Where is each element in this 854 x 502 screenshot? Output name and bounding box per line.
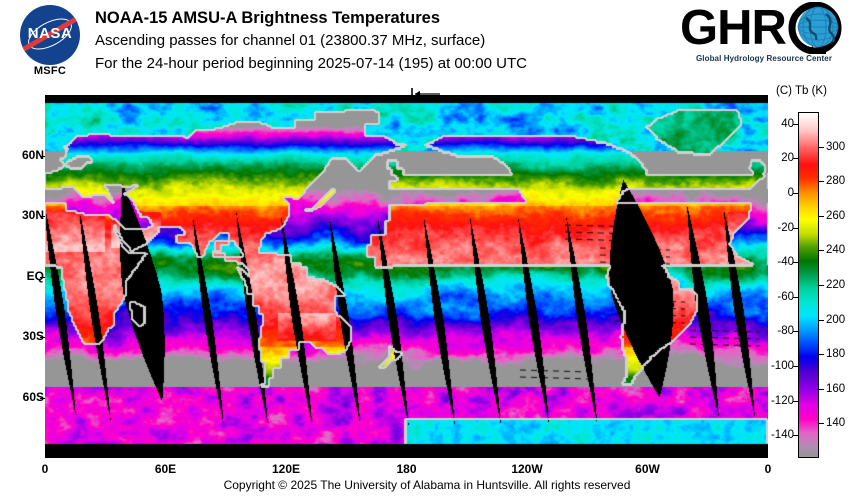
brightness-temperature-map[interactable] xyxy=(45,95,768,458)
colorbar-label-kelvin: 160 xyxy=(826,383,845,395)
copyright-notice: Copyright © 2025 The University of Alaba… xyxy=(0,478,854,492)
colorbar-gradient xyxy=(798,112,819,458)
map-canvas[interactable] xyxy=(45,95,768,458)
colorbar-label-kelvin: 220 xyxy=(826,279,845,291)
period-subtitle: For the 24-hour period beginning 2025-07… xyxy=(95,52,527,75)
colorbar-label-kelvin: 240 xyxy=(826,244,845,256)
latitude-tick xyxy=(40,337,45,338)
svg-text:GHR: GHR xyxy=(680,2,787,54)
channel-subtitle: Ascending passes for channel 01 (23800.3… xyxy=(95,29,527,52)
longitude-label: 0 xyxy=(42,462,49,476)
colorbar-tick-kelvin xyxy=(819,423,824,424)
title-block: NOAA-15 AMSU-A Brightness Temperatures A… xyxy=(95,8,527,75)
latitude-label: 60S xyxy=(0,390,52,404)
latitude-tick xyxy=(40,277,45,278)
page-header: NASA MSFC NOAA-15 AMSU-A Brightness Temp… xyxy=(0,0,854,88)
colorbar-label-kelvin: 140 xyxy=(826,417,845,429)
page-title: NOAA-15 AMSU-A Brightness Temperatures xyxy=(95,8,527,29)
colorbar-tick-kelvin xyxy=(819,285,824,286)
longitude-label: 60E xyxy=(155,462,176,476)
colorbar-tick-kelvin xyxy=(819,147,824,148)
longitude-label: 0 xyxy=(765,462,772,476)
latitude-tick xyxy=(40,398,45,399)
longitude-label: 120W xyxy=(511,462,542,476)
colorbar-label-kelvin: 280 xyxy=(826,175,845,187)
colorbar-tick-kelvin xyxy=(819,389,824,390)
latitude-tick xyxy=(40,156,45,157)
colorbar-tick-kelvin xyxy=(819,354,824,355)
colorbar-tick-kelvin xyxy=(819,216,824,217)
ghrc-wordmark-icon: GHR xyxy=(678,2,850,54)
latitude-tick xyxy=(40,216,45,217)
colorbar-tick-kelvin xyxy=(819,320,824,321)
colorbar-label-kelvin: 300 xyxy=(826,141,845,153)
longitude-label: 180 xyxy=(396,462,416,476)
colorbar-label-celsius: 40 xyxy=(781,118,794,130)
colorbar-tick-kelvin xyxy=(819,250,824,251)
latitude-label: 60N xyxy=(0,148,52,162)
map-top-arrow-marker xyxy=(408,88,442,100)
colorbar-label-celsius: -80 xyxy=(777,325,794,337)
latitude-label: 30N xyxy=(0,208,52,222)
longitude-label: 60W xyxy=(635,462,660,476)
latitude-label: 30S xyxy=(0,329,52,343)
latitude-axis: 60N30NEQ30S60S xyxy=(0,0,45,502)
ghrc-subtitle: Global Hydrology Resource Center xyxy=(678,54,850,63)
colorbar-tick-kelvin xyxy=(819,181,824,182)
colorbar-label-celsius: -20 xyxy=(777,222,794,234)
longitude-label: 120E xyxy=(272,462,300,476)
colorbar-label-celsius: -120 xyxy=(771,395,794,407)
latitude-label: EQ xyxy=(0,269,52,283)
colorbar-label-celsius: -60 xyxy=(777,291,794,303)
colorbar-label-celsius: 0 xyxy=(788,187,794,199)
colorbar-label-celsius: -140 xyxy=(771,429,794,441)
colorbar-label-celsius: -100 xyxy=(771,360,794,372)
colorbar-label-kelvin: 260 xyxy=(826,210,845,222)
colorbar-label-kelvin: 180 xyxy=(826,348,845,360)
colorbar-legend: (C) Tb (K) 40200-20-40-60-80-100-120-140… xyxy=(776,85,854,465)
ghrc-logo: GHR Global Hydrology Resource Center xyxy=(678,4,850,74)
colorbar-label-kelvin: 200 xyxy=(826,314,845,326)
colorbar-title: (C) Tb (K) xyxy=(776,85,854,97)
colorbar-label-celsius: -40 xyxy=(777,256,794,268)
colorbar-label-celsius: 20 xyxy=(781,152,794,164)
